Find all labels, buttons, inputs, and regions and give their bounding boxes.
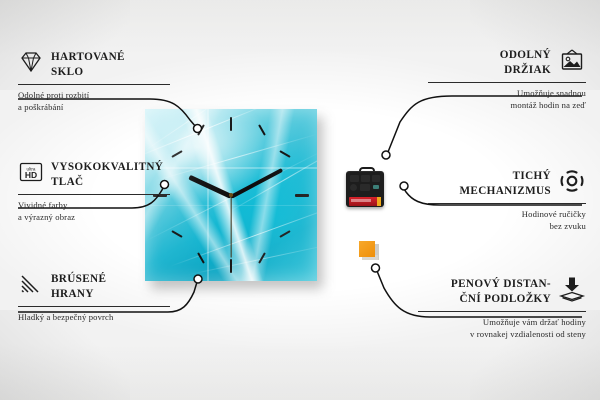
product-infographic: HARTOVANÉ SKLO Odolné proti rozbití a po…	[0, 0, 600, 400]
feature-desc-line1: Hodinové ručičky	[522, 209, 586, 219]
feature-description: Vividné farby a výrazný obraz	[18, 199, 170, 223]
feature-silent-mechanism: TICHÝ MECHANIZMUS Hodinové ručičky bez z…	[428, 168, 586, 232]
connector-dot-holder	[382, 151, 390, 159]
feature-durable-holder: ODOLNÝ DRŽIAK Umožňuje snadnou montáž ho…	[428, 48, 586, 111]
feature-title: VYSOKOKVALITNÝ TLAČ	[51, 160, 163, 190]
diamond-icon	[18, 50, 44, 79]
feature-title-line1: ODOLNÝ	[500, 49, 551, 61]
feature-desc-line2: montáž hodin na zeď	[511, 100, 586, 110]
feature-header: TICHÝ MECHANIZMUS	[428, 168, 586, 199]
feature-desc-line2: a výrazný obraz	[18, 212, 75, 222]
feature-foam-spacers: PENOVÝ DISTAN- ČNÍ PODLOŽKY Umožňuje vám…	[418, 276, 586, 340]
feature-desc-line1: Odolné proti rozbití	[18, 90, 89, 100]
feature-header: HARTOVANÉ SKLO	[18, 50, 170, 80]
feature-title: HARTOVANÉ SKLO	[51, 50, 125, 80]
feature-desc-line1: Vividné farby	[18, 200, 67, 210]
feature-beveled-edges: BRÚSENÉ HRANY Hladký a bezpečný povrch	[18, 272, 170, 323]
feature-header: BRÚSENÉ HRANY	[18, 272, 170, 302]
feature-header: PENOVÝ DISTAN- ČNÍ PODLOŽKY	[418, 276, 586, 307]
feature-title-line2: ČNÍ PODLOŽKY	[459, 293, 551, 305]
gear-icon	[558, 168, 586, 199]
feature-header: ODOLNÝ DRŽIAK	[428, 48, 586, 78]
feature-title-line2: SKLO	[51, 66, 84, 78]
feature-hq-print: ultra HD VYSOKOKVALITNÝ TLAČ Vividné far…	[18, 160, 170, 223]
feature-divider	[18, 194, 170, 195]
feature-title-line1: HARTOVANÉ	[51, 51, 125, 63]
feature-divider	[18, 84, 170, 85]
wall-mount-picture-icon	[558, 48, 586, 77]
feature-tempered-glass: HARTOVANÉ SKLO Odolné proti rozbití a po…	[18, 50, 170, 113]
feature-description: Odolné proti rozbití a poškrábání	[18, 89, 170, 113]
feature-desc-line1: Umožňuje snadnou	[517, 88, 586, 98]
feature-title: PENOVÝ DISTAN- ČNÍ PODLOŽKY	[451, 277, 551, 307]
feature-desc-line2: v rovnakej vzdialenosti od steny	[470, 329, 586, 339]
feature-title-line1: TICHÝ	[513, 170, 551, 182]
feature-title-line1: VYSOKOKVALITNÝ	[51, 161, 163, 173]
feature-title: TICHÝ MECHANIZMUS	[460, 169, 552, 199]
connector-dot-glass	[194, 125, 202, 133]
feature-header: ultra HD VYSOKOKVALITNÝ TLAČ	[18, 160, 170, 190]
ultra-hd-icon: ultra HD	[18, 160, 44, 189]
feature-title: BRÚSENÉ HRANY	[51, 272, 106, 302]
feature-description: Umožňuje vám držať hodiny v rovnakej vzd…	[418, 316, 586, 340]
feature-description: Umožňuje snadnou montáž hodin na zeď	[428, 87, 586, 111]
feature-desc-line2: a poškrábání	[18, 102, 63, 112]
feature-title: ODOLNÝ DRŽIAK	[500, 48, 551, 78]
beveled-edge-icon	[18, 272, 44, 301]
stacked-pads-arrow-icon	[558, 276, 586, 307]
feature-desc-line1: Umožňuje vám držať hodiny	[483, 317, 586, 327]
feature-divider	[18, 306, 170, 307]
feature-title-line2: DRŽIAK	[504, 64, 551, 76]
feature-title-line2: MECHANIZMUS	[460, 185, 552, 197]
connector-dot-pads	[372, 264, 380, 272]
feature-title-line2: HRANY	[51, 288, 94, 300]
feature-description: Hladký a bezpečný povrch	[18, 311, 170, 323]
connector-dot-mechanism	[400, 182, 408, 190]
feature-divider	[418, 311, 586, 312]
feature-title-line1: BRÚSENÉ	[51, 273, 106, 285]
feature-title-line1: PENOVÝ DISTAN-	[451, 278, 551, 290]
feature-title-line2: TLAČ	[51, 176, 83, 188]
connector-dot-edges	[194, 275, 202, 283]
feature-divider	[428, 203, 586, 204]
feature-description: Hodinové ručičky bez zvuku	[428, 208, 586, 232]
feature-desc-line1: Hladký a bezpečný povrch	[18, 312, 113, 322]
feature-desc-line2: bez zvuku	[550, 221, 586, 231]
svg-text:HD: HD	[25, 170, 37, 180]
feature-divider	[428, 82, 586, 83]
